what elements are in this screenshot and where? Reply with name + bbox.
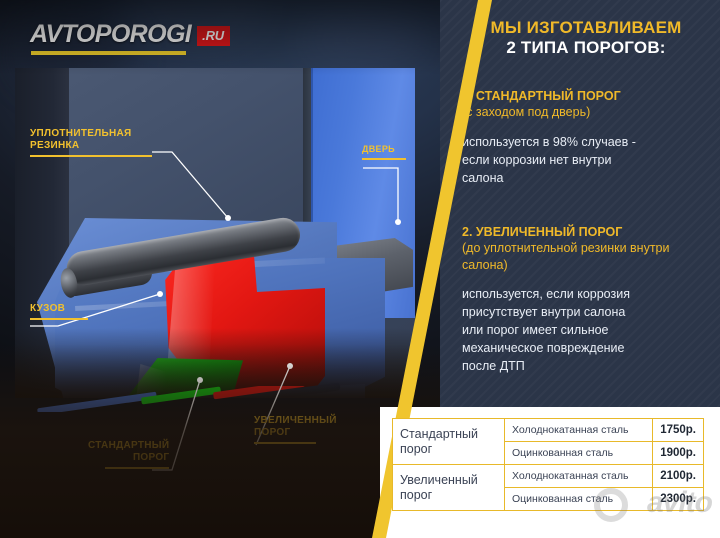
callout-underline [30, 318, 88, 320]
sill-cross-section-render [15, 68, 415, 398]
brand-logo-underline [31, 51, 186, 55]
info-block-extended: 2. УВЕЛИЧЕННЫЙ ПОРОГ (до уплотнительной … [462, 224, 712, 375]
callout-rubber-seal: УПЛОТНИТЕЛЬНАЯ РЕЗИНКА [30, 128, 152, 157]
price-row-value: 1750р. [653, 419, 704, 442]
info-block-body: используется, если коррозия присутствует… [462, 285, 712, 376]
price-row-material: Оцинкованная сталь [505, 442, 653, 465]
panel-heading-line1: МЫ ИЗГОТАВЛИВАЕМ [460, 18, 712, 38]
price-row-material: Холоднокатанная сталь [505, 419, 653, 442]
floor-edge-group [15, 386, 375, 412]
info-block-subtitle: (с заходом под дверь) [462, 104, 712, 120]
price-row-value: 2300р. [653, 488, 704, 511]
price-row-name: Стандартный порог [393, 419, 505, 465]
brand-logo-word: AVTOPOROGI [30, 22, 191, 47]
callout-underline [362, 158, 406, 160]
panel-heading: МЫ ИЗГОТАВЛИВАЕМ 2 ТИПА ПОРОГОВ: [460, 18, 712, 58]
bottom-edge-line [0, 532, 400, 538]
callout-car-body: КУЗОВ [30, 303, 88, 320]
floor-edge-body [37, 392, 157, 412]
backdrop-blob [300, 10, 430, 70]
info-block-title: 2. УВЕЛИЧЕННЫЙ ПОРОГ [462, 224, 712, 240]
callout-underline [105, 467, 169, 469]
info-block-title: 1. СТАНДАРТНЫЙ ПОРОГ [462, 88, 712, 104]
scene-shadow-left [15, 68, 69, 398]
callout-door: ДВЕРЬ [362, 144, 406, 160]
callout-extended-sill: УВЕЛИЧЕННЫЙ ПОРОГ [254, 415, 337, 444]
brand-logo[interactable]: AVTOPOROGI .RU [30, 22, 230, 47]
brand-logo-tld: .RU [197, 26, 230, 46]
promo-image: УПЛОТНИТЕЛЬНАЯ РЕЗИНКА КУЗОВ ДВЕРЬ СТАНД… [0, 0, 720, 538]
table-row: Увеличенный порог Холоднокатанная сталь … [393, 465, 704, 488]
price-row-name: Увеличенный порог [393, 465, 505, 511]
callout-label: УПЛОТНИТЕЛЬНАЯ РЕЗИНКА [30, 128, 152, 152]
price-table: Стандартный порог Холоднокатанная сталь … [392, 418, 704, 511]
info-block-standard: 1. СТАНДАРТНЫЙ ПОРОГ (с заходом под двер… [462, 88, 712, 187]
callout-label: ДВЕРЬ [362, 144, 406, 155]
price-row-value: 1900р. [653, 442, 704, 465]
table-row: Стандартный порог Холоднокатанная сталь … [393, 419, 704, 442]
floor-edge-standard [141, 386, 221, 404]
info-block-subtitle: (до уплотнительной резинки внутри салона… [462, 240, 712, 273]
price-row-value: 2100р. [653, 465, 704, 488]
callout-label: СТАНДАРТНЫЙ ПОРОГ [88, 440, 169, 464]
callout-label: КУЗОВ [30, 303, 88, 315]
callout-underline [254, 442, 316, 444]
price-row-material: Холоднокатанная сталь [505, 465, 653, 488]
callout-underline [30, 155, 152, 157]
callout-label: УВЕЛИЧЕННЫЙ ПОРОГ [254, 415, 337, 439]
floor-edge-extended [213, 386, 305, 399]
info-block-body: используется в 98% случаев - если корроз… [462, 133, 712, 187]
callout-standard-sill: СТАНДАРТНЫЙ ПОРОГ [88, 440, 169, 469]
price-row-material: Оцинкованная сталь [505, 488, 653, 511]
panel-heading-line2: 2 ТИПА ПОРОГОВ: [460, 38, 712, 58]
